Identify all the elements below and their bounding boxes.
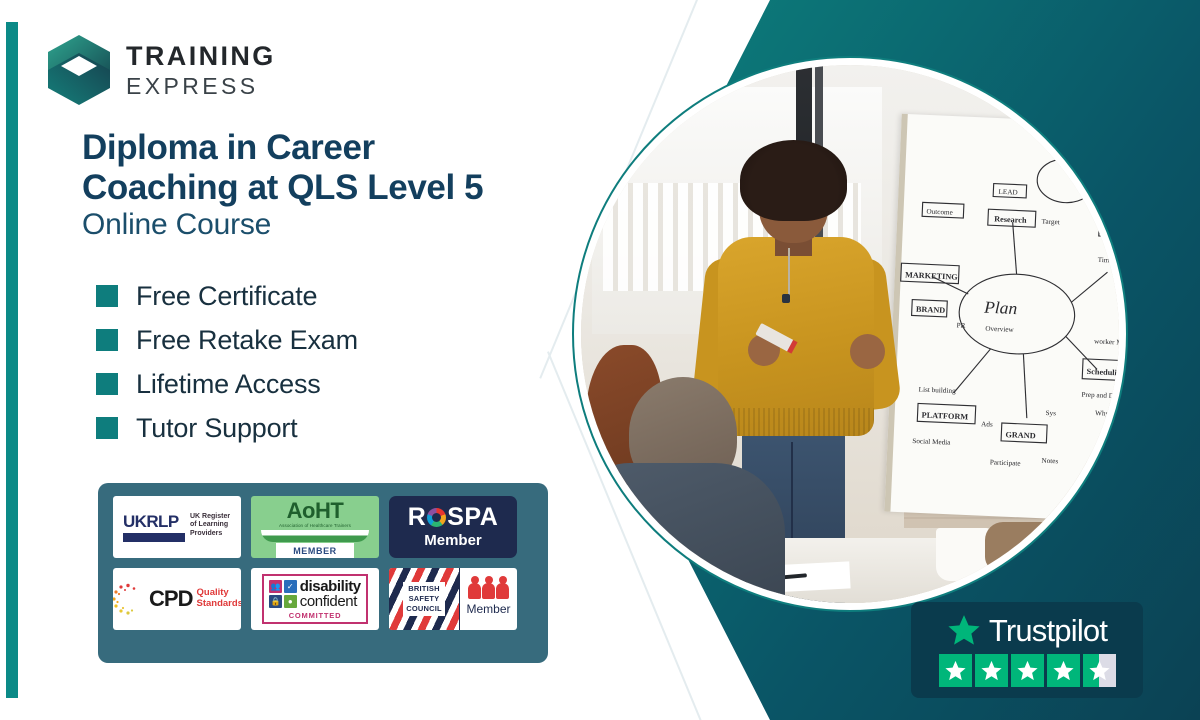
aoht-swoosh-graphic: [261, 530, 369, 542]
svg-text:LEAD: LEAD: [998, 188, 1018, 197]
badge-rospa: R SPA Member: [389, 496, 517, 558]
rospa-status: Member: [424, 532, 482, 549]
bullet-square-icon: [96, 285, 118, 307]
trustpilot-star-icon: [947, 613, 981, 647]
person-icon: ●: [284, 595, 297, 608]
chart-icon: ✓: [284, 580, 297, 593]
bsc-line3: COUNCIL: [406, 604, 442, 614]
badge-disability-confident: 👥 ✓ 🔒 ● disability confident COMMITTED: [251, 568, 379, 630]
disability-confident-icons: 👥 ✓ 🔒 ●: [269, 580, 297, 608]
list-item: Tutor Support: [96, 406, 358, 450]
trustpilot-wordmark: Trustpilot: [989, 615, 1107, 646]
rating-star-2: [975, 654, 1008, 687]
badge-british-safety-council: BRITISH SAFETY COUNCIL Member: [389, 568, 517, 630]
badge-cpd: CPD Quality Standards: [113, 568, 241, 630]
disability-confident-status: COMMITTED: [289, 611, 342, 620]
bsc-line2: SAFETY: [406, 594, 442, 604]
svg-text:Outcome: Outcome: [926, 207, 953, 216]
hero-photo: Plan Overview Research LEAD Outcome Targ…: [581, 65, 1119, 603]
cpd-dotted-arc-icon: [113, 582, 145, 616]
svg-text:GOALS: GOALS: [1103, 225, 1119, 235]
ukrlp-word: UKRLP: [123, 513, 185, 530]
aoht-subtitle: Association of Healthcare Trainers: [279, 523, 351, 528]
training-express-hexagon-logo: [46, 34, 112, 106]
presenter-pendant: [782, 294, 790, 303]
bullet-square-icon: [96, 373, 118, 395]
bsc-people-icon: [468, 583, 509, 599]
svg-text:Why grow: Why grow: [1095, 409, 1119, 418]
rating-star-1: [939, 654, 972, 687]
presenter-hair: [740, 140, 848, 221]
feature-label: Free Certificate: [136, 281, 317, 312]
bullet-square-icon: [96, 417, 118, 439]
svg-text:GRAND: GRAND: [1005, 430, 1036, 440]
aoht-status: MEMBER: [276, 543, 354, 558]
course-promo-banner: TRAINING EXPRESS Diploma in Career Coach…: [0, 0, 1200, 720]
accreditation-row-2: CPD Quality Standards 👥 ✓ 🔒 ●: [113, 568, 548, 630]
attendee-hand: [985, 522, 1055, 570]
svg-text:Release Stream: Release Stream: [1081, 173, 1119, 183]
trustpilot-rating-stars: [939, 654, 1116, 687]
cpd-sub-line2: Standards: [197, 599, 242, 610]
aoht-word: AoHT: [287, 500, 344, 522]
svg-text:PR: PR: [956, 321, 965, 329]
list-item: Lifetime Access: [96, 362, 358, 406]
rospa-word-after: SPA: [447, 505, 498, 530]
lock-icon: 🔒: [269, 595, 282, 608]
bsc-status: Member: [466, 602, 510, 616]
accreditation-panel: UKRLP UK Register of Learning Providers …: [98, 483, 548, 663]
svg-text:BRAND: BRAND: [916, 305, 946, 315]
svg-text:Sys: Sys: [1045, 409, 1056, 417]
disability-confident-word2: confident: [300, 594, 361, 609]
rating-star-3: [1011, 654, 1044, 687]
coffee-cup: [936, 528, 990, 582]
svg-text:Timelines: Timelines: [1098, 256, 1119, 265]
badge-ukrlp: UKRLP UK Register of Learning Providers: [113, 496, 241, 558]
list-item: Free Certificate: [96, 274, 358, 318]
svg-text:Target: Target: [1041, 217, 1060, 226]
svg-text:Notes: Notes: [1041, 456, 1058, 465]
course-subtitle: Online Course: [82, 208, 271, 242]
people-icon: 👥: [269, 580, 282, 593]
svg-text:Plan: Plan: [983, 298, 1018, 318]
disability-confident-word1: disability: [300, 579, 361, 594]
bullet-square-icon: [96, 329, 118, 351]
feature-label: Lifetime Access: [136, 369, 321, 400]
feature-list: Free Certificate Free Retake Exam Lifeti…: [96, 274, 358, 450]
rospa-word-before: R: [408, 505, 427, 530]
svg-text:List building: List building: [919, 385, 957, 394]
svg-text:Scheduling: Scheduling: [1087, 367, 1119, 378]
bsc-line1: BRITISH: [406, 584, 442, 594]
rating-star-4: [1047, 654, 1080, 687]
feature-label: Tutor Support: [136, 413, 297, 444]
hero-photo-ring: Plan Overview Research LEAD Outcome Targ…: [572, 56, 1128, 612]
attendee-shoulders: [581, 463, 785, 603]
svg-text:Social Media: Social Media: [912, 437, 951, 447]
ukrlp-sub-line2: of Learning: [190, 521, 230, 530]
flipchart-whiteboard: Plan Overview Research LEAD Outcome Targ…: [884, 114, 1119, 523]
svg-text:worker Modules: worker Modules: [1094, 337, 1119, 347]
presenter-sweater: [718, 237, 874, 436]
svg-text:Overview: Overview: [985, 325, 1015, 334]
cpd-word: CPD: [149, 586, 192, 612]
bsc-striped-panel: BRITISH SAFETY COUNCIL: [389, 568, 459, 630]
course-title: Diploma in Career Coaching at QLS Level …: [82, 128, 522, 207]
rating-star-5-half: [1083, 654, 1116, 687]
ukrlp-bar: [123, 533, 185, 542]
svg-text:MARKETING: MARKETING: [905, 270, 959, 281]
svg-text:Participate: Participate: [990, 458, 1021, 467]
trustpilot-badge[interactable]: Trustpilot: [911, 602, 1143, 698]
svg-text:Prep and Decline: Prep and Decline: [1081, 391, 1119, 401]
feature-label: Free Retake Exam: [136, 325, 358, 356]
brand-logo[interactable]: TRAINING EXPRESS: [46, 34, 276, 106]
left-accent-stripe: [6, 22, 18, 698]
logo-text-line2: EXPRESS: [126, 75, 276, 98]
svg-text:Research: Research: [994, 214, 1027, 224]
accreditation-row-1: UKRLP UK Register of Learning Providers …: [113, 496, 548, 558]
rospa-colour-wheel-icon: [427, 508, 446, 527]
badge-aoht: AoHT Association of Healthcare Trainers …: [251, 496, 379, 558]
svg-text:Ads: Ads: [981, 420, 993, 428]
ukrlp-sub-line3: Providers: [190, 530, 230, 539]
ukrlp-sub-line1: UK Register: [190, 513, 230, 522]
logo-text-line1: TRAINING: [126, 43, 276, 70]
list-item: Free Retake Exam: [96, 318, 358, 362]
svg-text:PLATFORM: PLATFORM: [922, 410, 969, 421]
